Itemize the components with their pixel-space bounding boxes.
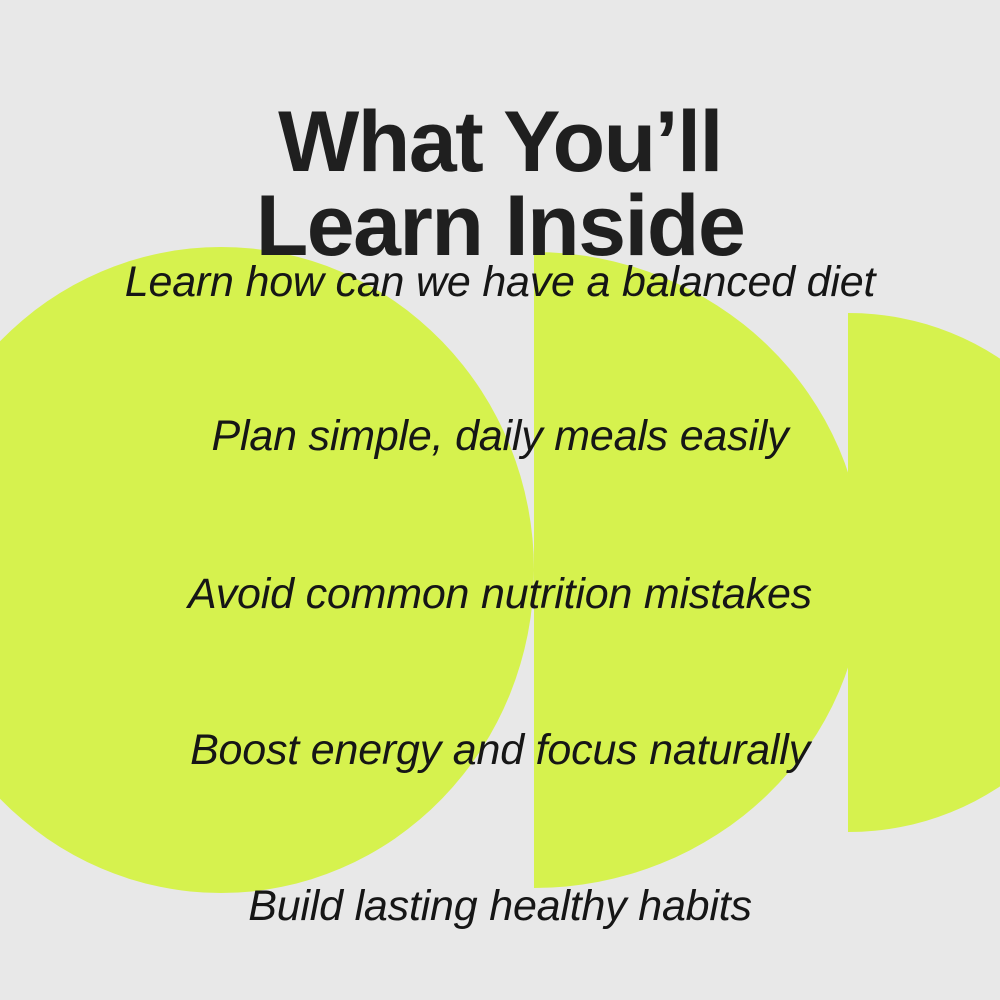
- benefit-item-4: Boost energy and focus naturally: [0, 727, 1000, 773]
- benefit-item-2: Plan simple, daily meals easily: [0, 413, 1000, 459]
- benefits-list: Learn how can we have a balanced diet Pl…: [0, 0, 1000, 1000]
- benefit-item-5: Build lasting healthy habits: [0, 883, 1000, 929]
- benefit-item-1: Learn how can we have a balanced diet: [0, 259, 1000, 305]
- benefit-item-3: Avoid common nutrition mistakes: [0, 571, 1000, 617]
- poster-canvas: What You’ll Learn Inside Learn how can w…: [0, 0, 1000, 1000]
- content-layer: What You’ll Learn Inside Learn how can w…: [0, 0, 1000, 1000]
